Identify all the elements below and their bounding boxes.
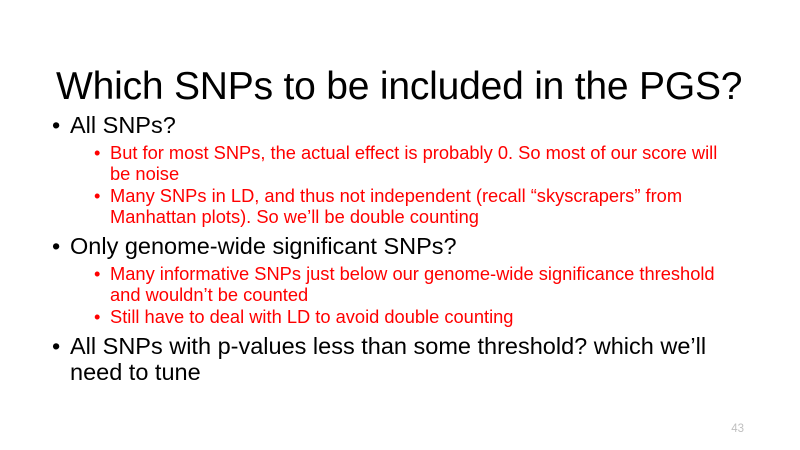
slide-body: • All SNPs? • But for most SNPs, the act… bbox=[48, 112, 754, 387]
bullet-list-level2: • But for most SNPs, the actual effect i… bbox=[70, 142, 730, 227]
bullet-list-level2: • Many informative SNPs just below our g… bbox=[70, 263, 730, 327]
bullet-marker-icon: • bbox=[52, 233, 60, 259]
bullet-marker-icon: • bbox=[94, 306, 100, 327]
bullet-text-level1: Only genome-wide significant SNPs? bbox=[70, 233, 750, 259]
slide: Which SNPs to be included in the PGS? • … bbox=[0, 0, 800, 450]
bullet-item-level2: • Many SNPs in LD, and thus not independ… bbox=[90, 185, 730, 227]
bullet-marker-icon: • bbox=[94, 263, 100, 284]
bullet-list-level1: • All SNPs? • But for most SNPs, the act… bbox=[48, 112, 754, 385]
page-title: Which SNPs to be included in the PGS? bbox=[56, 64, 756, 110]
bullet-marker-icon: • bbox=[94, 185, 100, 206]
bullet-text-level2: Still have to deal with LD to avoid doub… bbox=[110, 306, 730, 327]
bullet-marker-icon: • bbox=[94, 142, 100, 163]
bullet-marker-icon: • bbox=[52, 333, 60, 359]
bullet-text-level1: All SNPs with p-values less than some th… bbox=[70, 333, 750, 385]
bullet-item-level1: • All SNPs with p-values less than some … bbox=[48, 333, 754, 385]
bullet-item-level1: • All SNPs? • But for most SNPs, the act… bbox=[48, 112, 754, 227]
bullet-item-level2: • But for most SNPs, the actual effect i… bbox=[90, 142, 730, 184]
bullet-text-level2: But for most SNPs, the actual effect is … bbox=[110, 142, 730, 184]
bullet-item-level2: • Many informative SNPs just below our g… bbox=[90, 263, 730, 305]
bullet-item-level1: • Only genome-wide significant SNPs? • M… bbox=[48, 233, 754, 327]
bullet-marker-icon: • bbox=[52, 112, 60, 138]
bullet-item-level2: • Still have to deal with LD to avoid do… bbox=[90, 306, 730, 327]
bullet-text-level1: All SNPs? bbox=[70, 112, 750, 138]
bullet-text-level2: Many SNPs in LD, and thus not independen… bbox=[110, 185, 730, 227]
bullet-text-level2: Many informative SNPs just below our gen… bbox=[110, 263, 730, 305]
page-number: 43 bbox=[731, 422, 744, 436]
